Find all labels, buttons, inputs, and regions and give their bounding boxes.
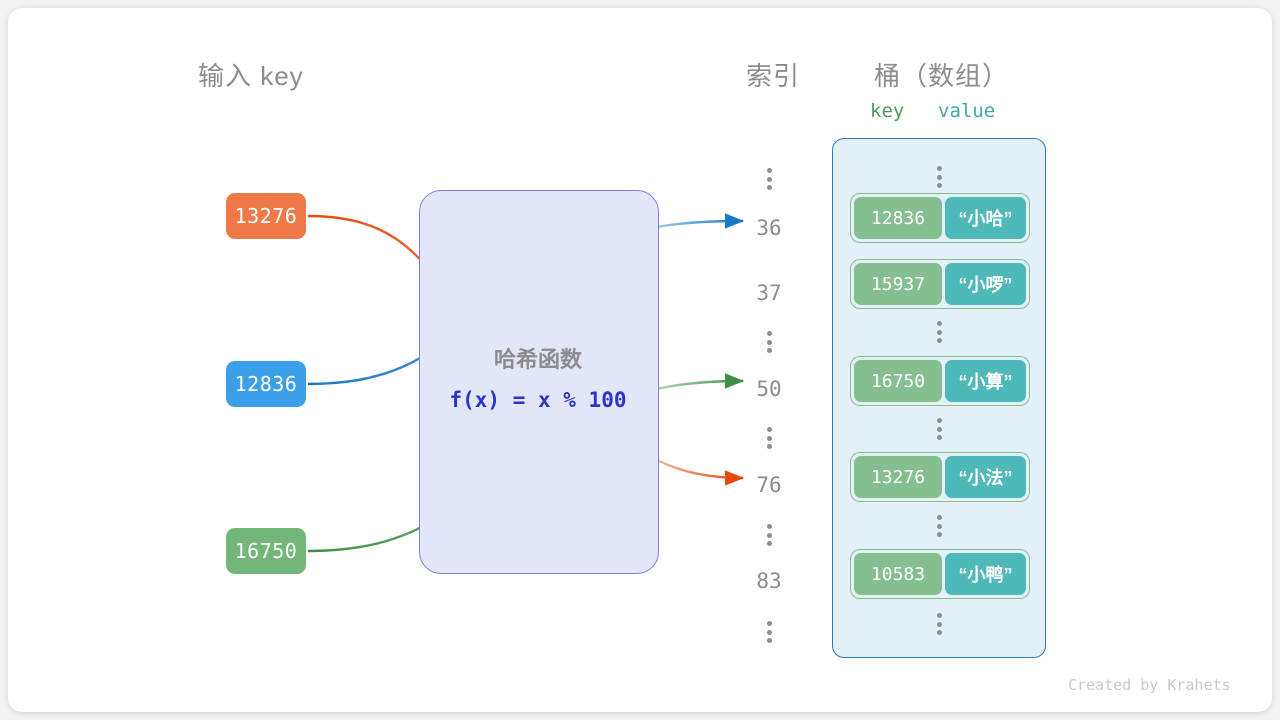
diagram-stage: 输入 key 索引 桶（数组） key value [8,8,1272,712]
index-label-83: 83 [746,569,792,593]
index-ellipsis [746,427,792,449]
column-label-value: value [938,100,995,122]
hash-function-name: 哈希函数 [419,342,657,374]
bucket-ellipsis [916,613,962,635]
hash-function-formula: f(x) = x % 100 [419,388,657,412]
diagram-card: 输入 key 索引 桶（数组） key value [8,8,1272,712]
bucket-entry[interactable]: 13276 “小法” [850,452,1030,502]
index-label-36: 36 [746,216,792,240]
input-key-text: 16750 [235,539,298,563]
bucket-entry-value: “小哈” [945,197,1026,239]
bucket-entry-key: 16750 [854,360,942,402]
bucket-entry-value: “小算” [945,360,1026,402]
index-ellipsis [746,331,792,353]
bucket-entry[interactable]: 10583 “小鸭” [850,549,1030,599]
bucket-ellipsis [916,321,962,343]
bucket-entry-value: “小法” [945,456,1026,498]
index-ellipsis [746,524,792,546]
bucket-entry-key: 10583 [854,553,942,595]
heading-input-key: 输入 key [198,56,304,93]
input-key-text: 13276 [235,204,298,228]
bucket-ellipsis [916,515,962,537]
bucket-entry[interactable]: 15937 “小啰” [850,259,1030,309]
column-label-key: key [870,100,904,122]
bucket-ellipsis [916,166,962,188]
index-label-50: 50 [746,377,792,401]
bucket-entry-key: 13276 [854,456,942,498]
input-key-box[interactable]: 16750 [226,528,306,574]
bucket-entry-key: 15937 [854,263,942,305]
credit-text: Created by Krahets [1068,676,1231,694]
bucket-entry[interactable]: 12836 “小哈” [850,193,1030,243]
input-key-text: 12836 [235,372,298,396]
input-key-box[interactable]: 12836 [226,361,306,407]
bucket-ellipsis [916,418,962,440]
index-label-76: 76 [746,473,792,497]
index-ellipsis [746,168,792,190]
heading-index: 索引 [746,56,800,93]
index-ellipsis [746,621,792,643]
bucket-entry-value: “小啰” [945,263,1026,305]
input-key-box[interactable]: 13276 [226,193,306,239]
bucket-entry[interactable]: 16750 “小算” [850,356,1030,406]
bucket-entry-value: “小鸭” [945,553,1026,595]
hash-function-box [419,190,659,574]
index-label-37: 37 [746,281,792,305]
heading-bucket: 桶（数组） [874,56,1009,93]
bucket-entry-key: 12836 [854,197,942,239]
